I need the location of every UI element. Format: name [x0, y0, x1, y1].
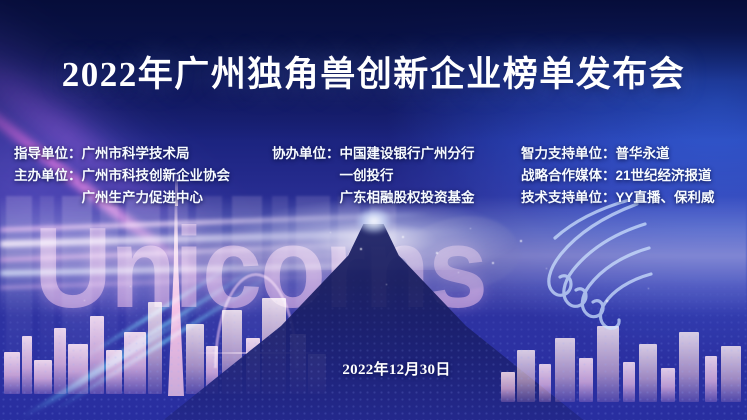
info-value: 21世纪经济报道: [616, 164, 712, 184]
info-value: 中国建设银行广州分行: [340, 142, 475, 162]
info-value: 广州生产力促进中心: [82, 186, 204, 206]
info-column-co-organizers: 协办单位：中国建设银行广州分行协办单位：一创投行协办单位：广东相融股权投资基金: [272, 142, 475, 208]
info-line: 智力支持单位：普华永道: [521, 142, 715, 164]
info-line: 协办单位：一创投行: [272, 164, 475, 186]
info-value: 广州市科学技术局: [82, 142, 190, 162]
organizer-info: 指导单位：广州市科学技术局主办单位：广州市科技创新企业协会指导单位：广州生产力促…: [0, 142, 747, 212]
info-value: YY直播、保利威: [616, 186, 715, 206]
info-line: 指导单位：广州生产力促进中心: [14, 186, 230, 208]
page-title: 2022年广州独角兽创新企业榜单发布会: [0, 46, 747, 97]
info-label: 战略合作媒体：: [521, 164, 616, 184]
event-poster: Unicorns 2022年广州独角兽创新企业榜单发布会 指导单位：广州市科学技…: [0, 0, 747, 420]
info-label: 技术支持单位：: [521, 186, 616, 206]
info-label: 协办单位：: [272, 142, 340, 162]
event-date: 2022年12月30日: [0, 358, 747, 379]
info-value: 广州市科技创新企业协会: [82, 164, 231, 184]
info-line: 技术支持单位：YY直播、保利威: [521, 186, 715, 208]
info-column-support-media: 智力支持单位：普华永道战略合作媒体：21世纪经济报道技术支持单位：YY直播、保利…: [521, 142, 715, 208]
info-line: 协办单位：中国建设银行广州分行: [272, 142, 475, 164]
info-line: 主办单位：广州市科技创新企业协会: [14, 164, 230, 186]
info-value: 普华永道: [616, 142, 670, 162]
info-value: 广东相融股权投资基金: [340, 186, 475, 206]
info-label: 智力支持单位：: [521, 142, 616, 162]
info-value: 一创投行: [340, 164, 394, 184]
halftone-dot-texture: [0, 270, 747, 420]
info-label: 主办单位：: [14, 164, 82, 184]
info-line: 协办单位：广东相融股权投资基金: [272, 186, 475, 208]
info-column-guidance-host: 指导单位：广州市科学技术局主办单位：广州市科技创新企业协会指导单位：广州生产力促…: [14, 142, 230, 208]
info-line: 战略合作媒体：21世纪经济报道: [521, 164, 715, 186]
info-line: 指导单位：广州市科学技术局: [14, 142, 230, 164]
info-label: 指导单位：: [14, 142, 82, 162]
